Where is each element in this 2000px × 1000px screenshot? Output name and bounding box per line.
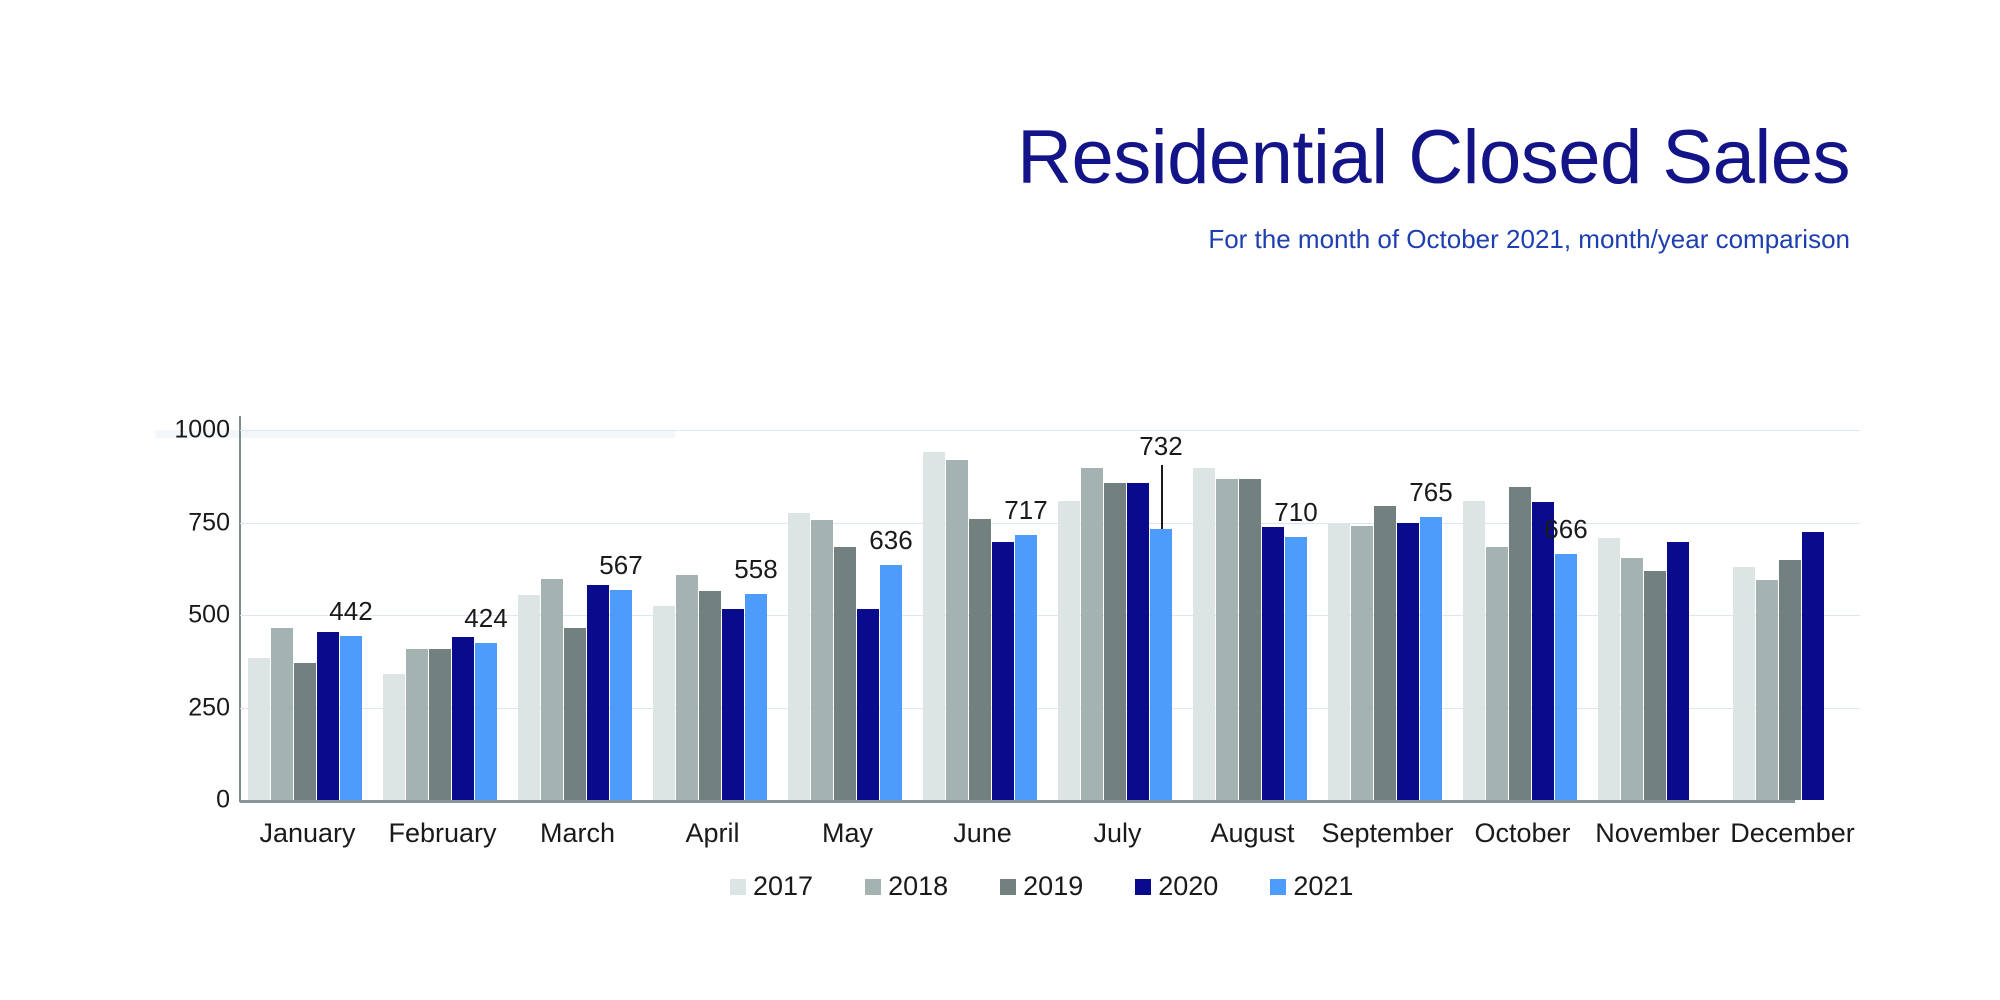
page-title: Residential Closed Sales	[0, 118, 1880, 198]
chart-plot-wrapper: 02505007501000 4424245675586367177327107…	[0, 430, 2000, 850]
x-axis-label-july: July	[1050, 818, 1185, 849]
bar-august-2018[interactable]	[1216, 479, 1238, 800]
y-axis-tick-labels: 02505007501000	[140, 430, 230, 800]
bar-group-july: 732	[1050, 430, 1185, 800]
bar-november-2020[interactable]	[1667, 542, 1689, 800]
bar-group-february: 424	[375, 430, 510, 800]
bar-november-2017[interactable]	[1598, 538, 1620, 800]
bar-july-2018[interactable]	[1081, 468, 1103, 800]
bar-january-2020[interactable]	[317, 632, 339, 800]
bar-april-2020[interactable]	[722, 609, 744, 800]
x-axis-label-december: December	[1725, 818, 1860, 849]
chart-legend: 20172018201920202021	[730, 873, 1353, 900]
data-label-october: 666	[1544, 514, 1587, 545]
legend-item-2017[interactable]: 2017	[730, 873, 813, 900]
legend-swatch-icon-2017	[730, 879, 746, 895]
x-axis-label-october: October	[1455, 818, 1590, 849]
bar-february-2018[interactable]	[406, 649, 428, 800]
bar-january-2017[interactable]	[248, 658, 270, 800]
bar-february-2019[interactable]	[429, 649, 451, 800]
bar-april-2017[interactable]	[653, 606, 675, 800]
bar-february-2020[interactable]	[452, 637, 474, 800]
bar-group-april: 558	[645, 430, 780, 800]
bar-may-2018[interactable]	[811, 520, 833, 800]
bar-group-december	[1725, 430, 1860, 800]
bar-december-2017[interactable]	[1733, 567, 1755, 800]
data-label-leader-line-july	[1161, 465, 1163, 529]
bar-november-2018[interactable]	[1621, 558, 1643, 800]
x-axis-label-september: September	[1320, 818, 1455, 849]
bar-may-2017[interactable]	[788, 513, 810, 800]
bar-february-2017[interactable]	[383, 674, 405, 800]
data-label-march: 567	[599, 550, 642, 581]
bar-august-2021[interactable]	[1285, 537, 1307, 800]
y-axis-tick-0: 0	[216, 786, 230, 815]
bar-march-2017[interactable]	[518, 595, 540, 800]
x-axis-label-june: June	[915, 818, 1050, 849]
bar-may-2019[interactable]	[834, 547, 856, 800]
bar-march-2020[interactable]	[587, 585, 609, 800]
y-axis-tick-250: 250	[188, 693, 230, 722]
data-label-january: 442	[329, 596, 372, 627]
bar-june-2021[interactable]	[1015, 535, 1037, 800]
legend-label-2020: 2020	[1158, 873, 1218, 900]
data-label-june: 717	[1004, 495, 1047, 526]
bar-september-2021[interactable]	[1420, 517, 1442, 800]
bar-january-2019[interactable]	[294, 663, 316, 800]
bar-group-march: 567	[510, 430, 645, 800]
bar-january-2021[interactable]	[340, 636, 362, 800]
bar-september-2018[interactable]	[1351, 526, 1373, 800]
bar-june-2018[interactable]	[946, 460, 968, 800]
bar-july-2020[interactable]	[1127, 483, 1149, 800]
bar-april-2018[interactable]	[676, 575, 698, 800]
bar-july-2019[interactable]	[1104, 483, 1126, 800]
bar-june-2019[interactable]	[969, 519, 991, 800]
x-axis-category-labels: JanuaryFebruaryMarchAprilMayJuneJulyAugu…	[240, 818, 1860, 849]
legend-swatch-icon-2018	[865, 879, 881, 895]
legend-item-2020[interactable]: 2020	[1135, 873, 1218, 900]
y-axis-tick-500: 500	[188, 601, 230, 630]
legend-label-2019: 2019	[1023, 873, 1083, 900]
chart-header: Residential Closed Sales For the month o…	[0, 0, 1880, 256]
data-label-february: 424	[464, 603, 507, 634]
bar-group-may: 636	[780, 430, 915, 800]
bar-october-2021[interactable]	[1555, 554, 1577, 800]
bar-october-2017[interactable]	[1463, 501, 1485, 800]
bar-december-2018[interactable]	[1756, 580, 1778, 800]
x-axis-line	[240, 800, 1795, 803]
bar-group-november	[1590, 430, 1725, 800]
bar-february-2021[interactable]	[475, 643, 497, 800]
legend-item-2021[interactable]: 2021	[1270, 873, 1353, 900]
bar-december-2020[interactable]	[1802, 532, 1824, 800]
legend-label-2017: 2017	[753, 873, 813, 900]
plot-area: 442424567558636717732710765666	[240, 430, 1860, 800]
legend-label-2018: 2018	[888, 873, 948, 900]
legend-swatch-icon-2020	[1135, 879, 1151, 895]
x-axis-label-february: February	[375, 818, 510, 849]
data-label-april: 558	[734, 554, 777, 585]
legend-label-2021: 2021	[1293, 873, 1353, 900]
data-label-may: 636	[869, 525, 912, 556]
bar-group-august: 710	[1185, 430, 1320, 800]
bar-june-2020[interactable]	[992, 542, 1014, 800]
x-axis-label-march: March	[510, 818, 645, 849]
bar-november-2019[interactable]	[1644, 571, 1666, 800]
bar-september-2017[interactable]	[1328, 524, 1350, 800]
x-axis-label-january: January	[240, 818, 375, 849]
bar-march-2019[interactable]	[564, 628, 586, 800]
bar-group-september: 765	[1320, 430, 1455, 800]
bar-october-2020[interactable]	[1532, 502, 1554, 800]
legend-swatch-icon-2021	[1270, 879, 1286, 895]
bar-groups: 442424567558636717732710765666	[240, 430, 1860, 800]
bar-march-2021[interactable]	[610, 590, 632, 800]
bar-january-2018[interactable]	[271, 628, 293, 800]
bar-july-2021[interactable]	[1150, 529, 1172, 800]
bar-september-2020[interactable]	[1397, 523, 1419, 800]
legend-swatch-icon-2019	[1000, 879, 1016, 895]
legend-item-2019[interactable]: 2019	[1000, 873, 1083, 900]
bar-april-2019[interactable]	[699, 591, 721, 800]
bar-may-2020[interactable]	[857, 609, 879, 800]
y-axis-tick-1000: 1000	[174, 416, 230, 445]
x-axis-label-august: August	[1185, 818, 1320, 849]
x-axis-label-november: November	[1590, 818, 1725, 849]
data-label-august: 710	[1274, 497, 1317, 528]
bar-october-2018[interactable]	[1486, 547, 1508, 800]
bar-april-2021[interactable]	[745, 594, 767, 800]
bar-may-2021[interactable]	[880, 565, 902, 800]
bar-october-2019[interactable]	[1509, 487, 1531, 800]
bar-september-2019[interactable]	[1374, 506, 1396, 800]
bar-august-2017[interactable]	[1193, 468, 1215, 800]
y-axis-tick-750: 750	[188, 508, 230, 537]
bar-june-2017[interactable]	[923, 452, 945, 800]
bar-august-2020[interactable]	[1262, 527, 1284, 800]
legend-item-2018[interactable]: 2018	[865, 873, 948, 900]
bar-december-2019[interactable]	[1779, 560, 1801, 801]
x-axis-label-april: April	[645, 818, 780, 849]
data-label-september: 765	[1409, 477, 1452, 508]
chart-subtitle: For the month of October 2021, month/yea…	[0, 198, 1880, 256]
bar-group-june: 717	[915, 430, 1050, 800]
data-label-july: 732	[1139, 431, 1182, 462]
x-axis-label-may: May	[780, 818, 915, 849]
bar-march-2018[interactable]	[541, 579, 563, 800]
bar-august-2019[interactable]	[1239, 479, 1261, 800]
bar-july-2017[interactable]	[1058, 501, 1080, 800]
bar-group-january: 442	[240, 430, 375, 800]
bar-group-october: 666	[1455, 430, 1590, 800]
